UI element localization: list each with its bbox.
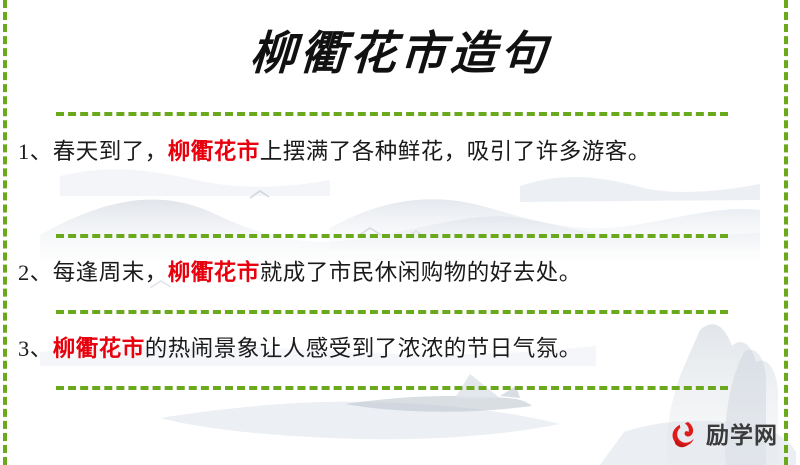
list-item: 3、柳衢花市的热闹景象让人感受到了浓浓的节日气氛。 xyxy=(18,328,780,370)
item-text-after: 就成了市民休闲购物的好去处。 xyxy=(260,260,582,285)
item-number: 1、 xyxy=(18,139,53,164)
separator-after-item-1 xyxy=(56,234,728,238)
red-swirl-flame-icon xyxy=(668,419,700,451)
separator-after-item-2 xyxy=(56,310,728,314)
left-dashed-border xyxy=(3,0,7,465)
page-title: 柳衢花市造句 xyxy=(0,26,800,82)
separator-after-item-3 xyxy=(56,386,728,390)
site-watermark-logo: 励学网 xyxy=(668,417,778,453)
item-text-before: 春天到了， xyxy=(53,139,168,164)
separator-under-title xyxy=(56,112,728,116)
highlighted-keyword: 柳衢花市 xyxy=(168,260,260,285)
item-text-before: 每逢周末， xyxy=(53,260,168,285)
item-text-after: 的热闹景象让人感受到了浓浓的节日气氛。 xyxy=(145,336,582,361)
list-item: 1、春天到了，柳衢花市上摆满了各种鲜花，吸引了许多游客。 xyxy=(18,131,780,173)
right-dashed-border xyxy=(784,0,788,465)
highlighted-keyword: 柳衢花市 xyxy=(168,139,260,164)
highlighted-keyword: 柳衢花市 xyxy=(53,336,145,361)
list-item: 2、每逢周末，柳衢花市就成了市民休闲购物的好去处。 xyxy=(18,252,780,294)
site-watermark-text: 励学网 xyxy=(706,419,778,451)
item-number: 3、 xyxy=(18,336,53,361)
document-page: 柳衢花市造句 1、春天到了，柳衢花市上摆满了各种鲜花，吸引了许多游客。 2、每逢… xyxy=(0,0,800,465)
item-text-after: 上摆满了各种鲜花，吸引了许多游客。 xyxy=(260,139,651,164)
content-area: 柳衢花市造句 1、春天到了，柳衢花市上摆满了各种鲜花，吸引了许多游客。 2、每逢… xyxy=(0,0,800,465)
item-number: 2、 xyxy=(18,260,53,285)
